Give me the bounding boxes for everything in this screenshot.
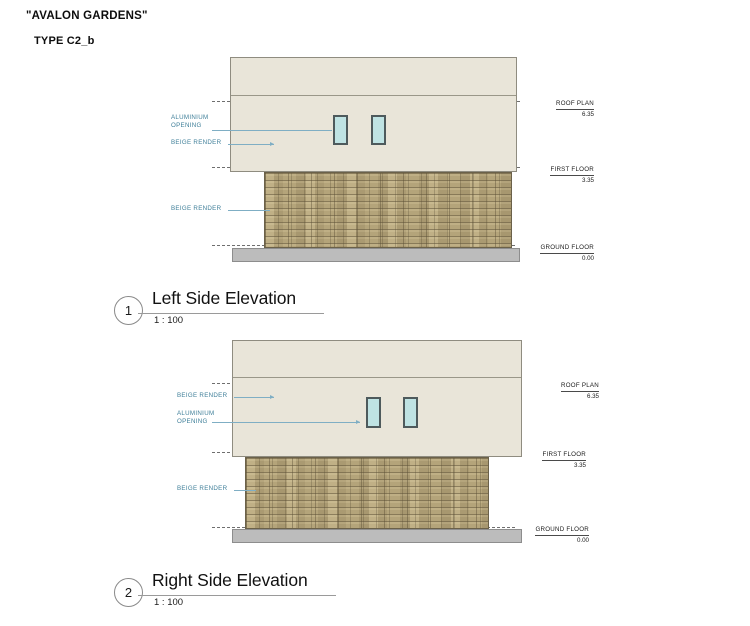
ground-slab xyxy=(232,529,522,543)
annotation-beige-render-base: BEIGE RENDER xyxy=(171,205,221,213)
view-scale-2: 1 : 100 xyxy=(154,597,183,608)
leader-arrow-beige-render-upper xyxy=(270,142,274,146)
leader-aluminium-opening xyxy=(212,422,360,423)
level-tag-roof-plan: ROOF PLAN 6.35 xyxy=(516,92,594,119)
level-tag-first-floor: FIRST FLOOR 3.35 xyxy=(516,158,594,185)
annotation-aluminium-opening: ALUMINIUM OPENING xyxy=(171,114,208,130)
annotation-aluminium-opening-label: ALUMINIUM OPENING xyxy=(177,410,214,426)
annotation-aluminium-opening: ALUMINIUM OPENING xyxy=(177,410,214,426)
level-tag-first-floor: FIRST FLOOR 3.35 xyxy=(508,443,586,470)
level-value-first-floor: 3.35 xyxy=(508,461,586,470)
view-name-2: Right Side Elevation xyxy=(152,570,308,591)
aluminium-window-1 xyxy=(366,397,381,428)
level-name-ground-floor: GROUND FLOOR xyxy=(540,244,594,254)
level-value-first-floor: 3.35 xyxy=(516,176,594,185)
annotation-beige-render-upper: BEIGE RENDER xyxy=(177,392,227,400)
level-tag-ground-floor: GROUND FLOOR 0.00 xyxy=(502,518,589,545)
aluminium-window-2 xyxy=(371,115,386,145)
leader-arrow-beige-render-upper xyxy=(270,395,274,399)
annotation-beige-render-upper-label: BEIGE RENDER xyxy=(171,139,221,147)
annotation-beige-render-base: BEIGE RENDER xyxy=(177,485,227,493)
leader-beige-render-base xyxy=(234,490,256,491)
leader-beige-render-upper xyxy=(228,144,274,145)
elevation-1-left-side: ROOF PLAN 6.35 FIRST FLOOR 3.35 GROUND F… xyxy=(0,0,750,290)
drawing-sheet: "AVALON GARDENS" TYPE C2_b ROOF PLAN 6.3… xyxy=(0,0,750,626)
leader-arrow-aluminium-opening xyxy=(356,420,360,424)
leader-beige-render-upper xyxy=(234,397,274,398)
annotation-beige-render-upper-label: BEIGE RENDER xyxy=(177,392,227,400)
level-name-first-floor: FIRST FLOOR xyxy=(550,166,594,176)
annotation-beige-render-base-label: BEIGE RENDER xyxy=(177,485,227,493)
stone-base-wall xyxy=(264,172,512,248)
level-value-ground-floor: 0.00 xyxy=(502,536,589,545)
view-title-rule-2 xyxy=(138,595,336,596)
parapet-line xyxy=(231,95,516,96)
aluminium-window-1 xyxy=(333,115,348,145)
annotation-beige-render-base-label: BEIGE RENDER xyxy=(171,205,221,213)
stone-base-wall xyxy=(245,457,489,529)
leader-beige-render-base xyxy=(228,210,270,211)
parapet-line xyxy=(233,377,521,378)
level-tag-ground-floor: GROUND FLOOR 0.00 xyxy=(507,236,594,263)
level-value-ground-floor: 0.00 xyxy=(507,254,594,263)
ground-slab xyxy=(232,248,520,262)
leader-aluminium-opening xyxy=(212,130,332,131)
level-name-roof-plan: ROOF PLAN xyxy=(561,382,599,392)
level-name-roof-plan: ROOF PLAN xyxy=(556,100,594,110)
level-name-first-floor: FIRST FLOOR xyxy=(542,451,586,461)
elevation-2-right-side: ROOF PLAN 6.35 FIRST FLOOR 3.35 GROUND F… xyxy=(0,282,750,626)
view-title-elevation-2[interactable]: 2 Right Side Elevation 1 : 100 xyxy=(114,570,394,612)
level-value-roof-plan: 6.35 xyxy=(516,110,594,119)
view-number-bubble-2[interactable]: 2 xyxy=(114,578,143,607)
level-tag-roof-plan: ROOF PLAN 6.35 xyxy=(521,374,599,401)
annotation-beige-render-upper: BEIGE RENDER xyxy=(171,139,221,147)
level-name-ground-floor: GROUND FLOOR xyxy=(535,526,589,536)
aluminium-window-2 xyxy=(403,397,418,428)
level-value-roof-plan: 6.35 xyxy=(521,392,599,401)
annotation-aluminium-opening-label: ALUMINIUM OPENING xyxy=(171,114,208,130)
